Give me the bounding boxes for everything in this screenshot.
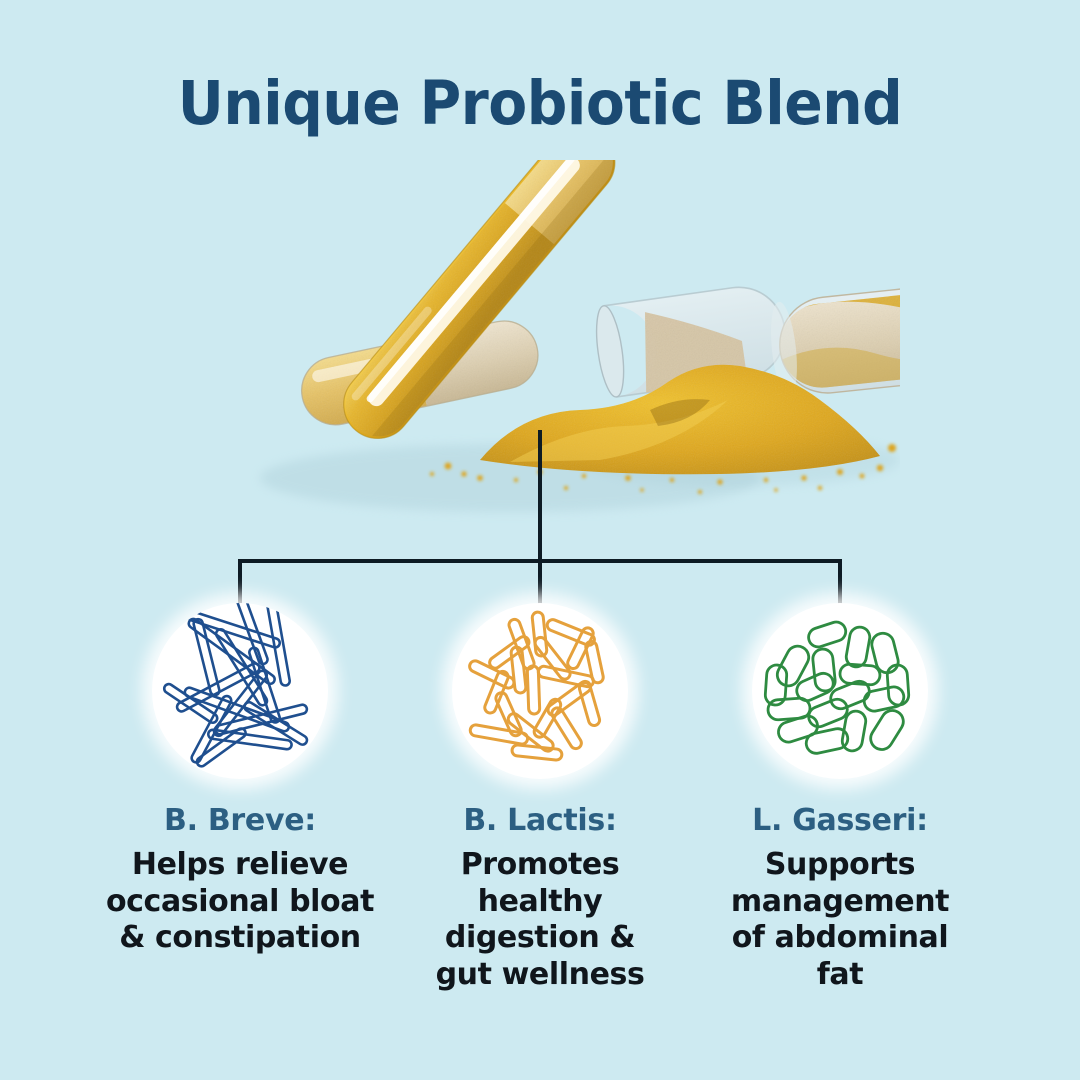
strain-column-b-breve: B. Breve: Helps relieve occasional bloat… bbox=[70, 600, 410, 957]
strain-name-1: B. Breve: bbox=[70, 804, 410, 837]
rod-bacteria-icon bbox=[152, 603, 328, 779]
rod-bacteria-icon bbox=[452, 603, 628, 779]
product-capsule-image bbox=[180, 160, 900, 550]
strain-description-1: Helps relieve occasional bloat & constip… bbox=[70, 847, 410, 957]
capsule-bacteria-icon bbox=[752, 603, 928, 779]
strain-name-3: L. Gasseri: bbox=[670, 804, 1010, 837]
strain-icon-wrap-1 bbox=[70, 600, 410, 782]
page-title: Unique Probiotic Blend bbox=[38, 72, 1042, 136]
strain-description-2: Promotes healthy digestion & gut wellnes… bbox=[370, 847, 710, 993]
infographic-canvas: Unique Probiotic Blend bbox=[0, 0, 1080, 1080]
strain-name-2: B. Lactis: bbox=[370, 804, 710, 837]
strain-column-b-lactis: B. Lactis: Promotes healthy digestion & … bbox=[370, 600, 710, 993]
strain-column-l-gasseri: L. Gasseri: Supports management of abdom… bbox=[670, 600, 1010, 993]
strain-icon-wrap-3 bbox=[670, 600, 1010, 782]
capsule-main bbox=[330, 160, 630, 454]
strain-icon-wrap-2 bbox=[370, 600, 710, 782]
strain-description-3: Supports management of abdominal fat bbox=[670, 847, 1010, 993]
